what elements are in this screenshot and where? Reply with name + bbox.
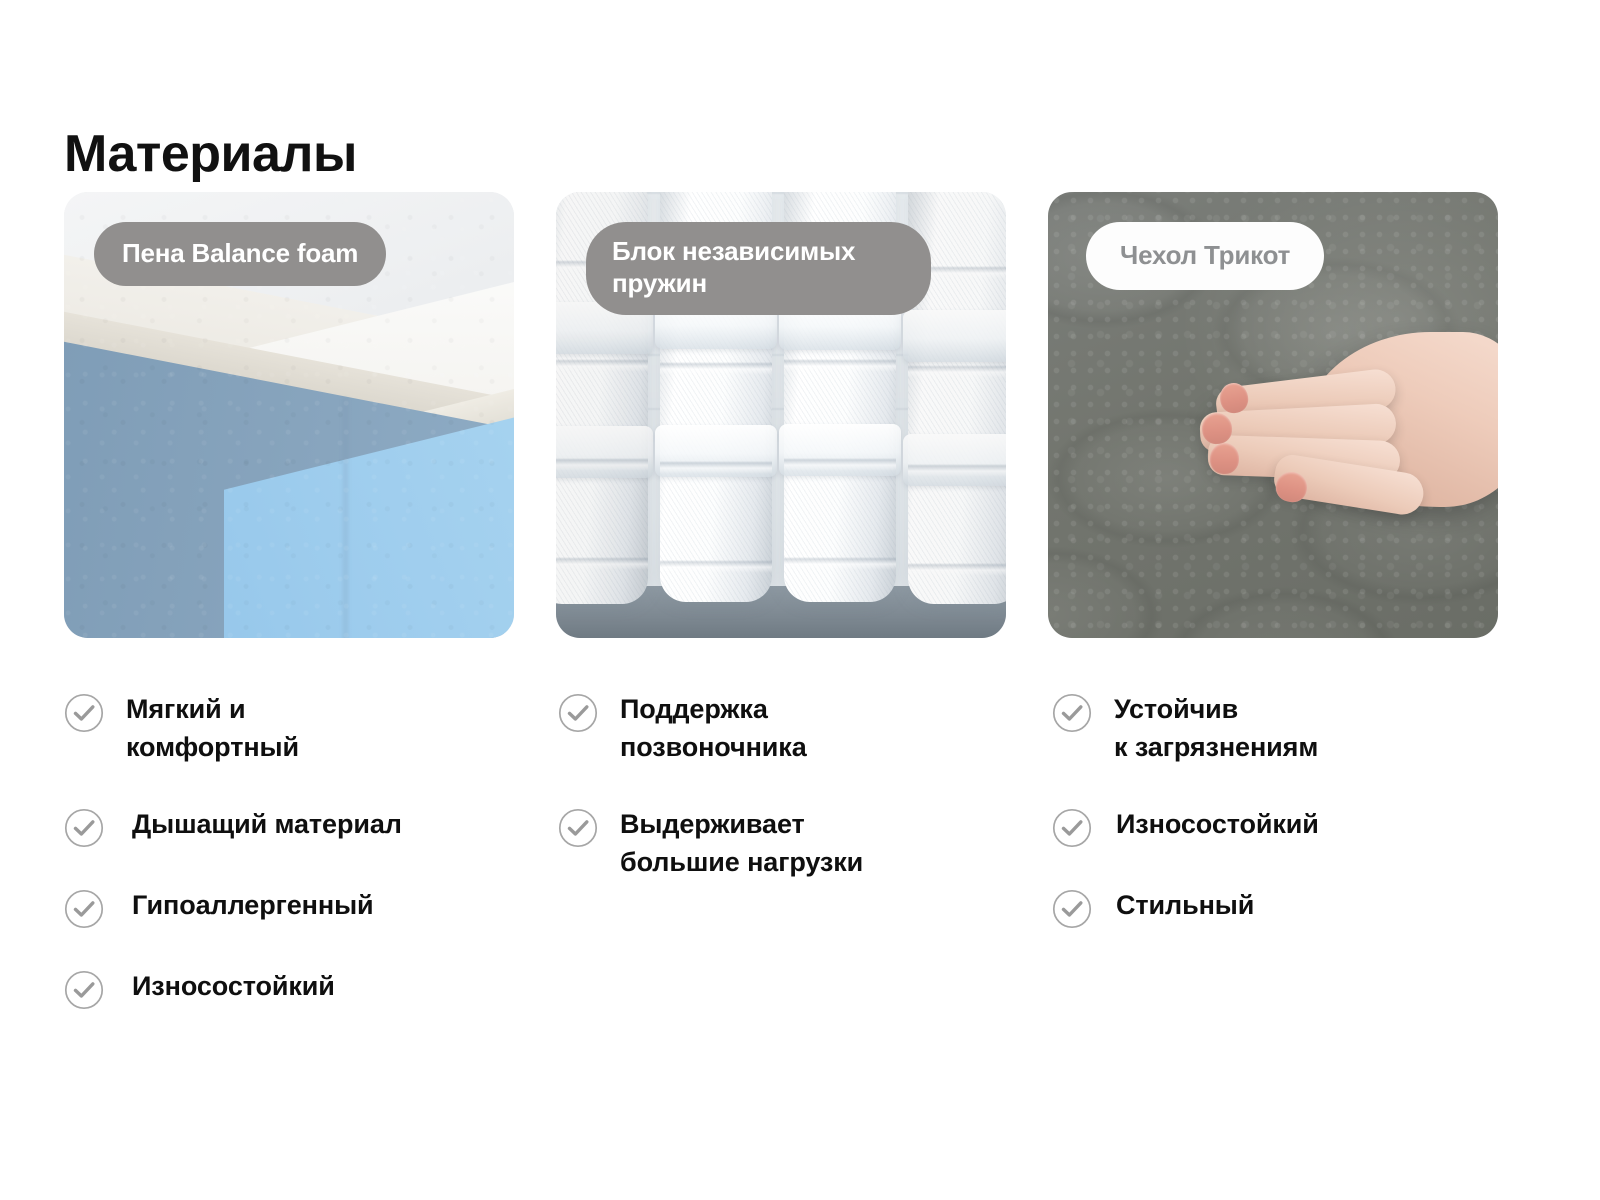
- feature-item: Стильный: [1052, 886, 1504, 929]
- materials-page: Материалы Пена Balance foam: [0, 0, 1600, 1200]
- check-circle-icon: [1052, 889, 1092, 929]
- card-badge-cover: Чехол Трикот: [1086, 222, 1324, 290]
- spring-seam: [903, 434, 1006, 486]
- spring-seam: [779, 424, 901, 476]
- feature-column-cover: Устойчив к загрязнениям Износостойкий: [1052, 690, 1504, 1010]
- feature-item: Дышащий материал: [64, 805, 516, 848]
- material-card-springs[interactable]: Блок независимых пружин: [556, 192, 1006, 638]
- check-circle-icon: [64, 970, 104, 1010]
- material-card-foam[interactable]: Пена Balance foam: [64, 192, 514, 638]
- card-badge-foam: Пена Balance foam: [94, 222, 386, 286]
- feature-label: Устойчив к загрязнениям: [1114, 690, 1318, 767]
- feature-item: Износостойкий: [1052, 805, 1504, 848]
- feature-item: Гипоаллергенный: [64, 886, 516, 929]
- card-badge-springs: Блок независимых пружин: [586, 222, 931, 315]
- feature-columns: Мягкий и комфортный Дышащий материал: [64, 690, 1504, 1010]
- feature-label: Выдерживает большие нагрузки: [620, 805, 863, 882]
- hand-pressing-cover: [1182, 320, 1498, 525]
- spring-seam: [655, 425, 777, 477]
- material-cards-row: Пена Balance foam: [64, 192, 1500, 638]
- feature-label: Стильный: [1114, 886, 1254, 924]
- check-circle-icon: [558, 808, 598, 848]
- feature-label: Износостойкий: [126, 967, 335, 1005]
- feature-label: Гипоаллергенный: [126, 886, 374, 924]
- check-circle-icon: [1052, 693, 1092, 733]
- feature-item: Износостойкий: [64, 967, 516, 1010]
- check-circle-icon: [1052, 808, 1092, 848]
- feature-item: Поддержка позвоночника: [558, 690, 1010, 767]
- feature-label: Мягкий и комфортный: [126, 690, 299, 767]
- page-title: Материалы: [64, 128, 357, 180]
- feature-column-foam: Мягкий и комфортный Дышащий материал: [64, 690, 516, 1010]
- material-card-cover[interactable]: Чехол Трикот: [1048, 192, 1498, 638]
- spring-seam: [556, 426, 653, 478]
- check-circle-icon: [64, 889, 104, 929]
- feature-label: Износостойкий: [1114, 805, 1319, 843]
- check-circle-icon: [64, 808, 104, 848]
- check-circle-icon: [64, 693, 104, 733]
- fingernail: [1209, 443, 1239, 475]
- feature-label: Поддержка позвоночника: [620, 690, 807, 767]
- feature-column-springs: Поддержка позвоночника Выдерживает больш…: [558, 690, 1010, 1010]
- spring-seam: [903, 310, 1006, 362]
- feature-item: Мягкий и комфортный: [64, 690, 516, 767]
- feature-label: Дышащий материал: [126, 805, 402, 843]
- feature-item: Выдерживает большие нагрузки: [558, 805, 1010, 882]
- check-circle-icon: [558, 693, 598, 733]
- feature-item: Устойчив к загрязнениям: [1052, 690, 1504, 767]
